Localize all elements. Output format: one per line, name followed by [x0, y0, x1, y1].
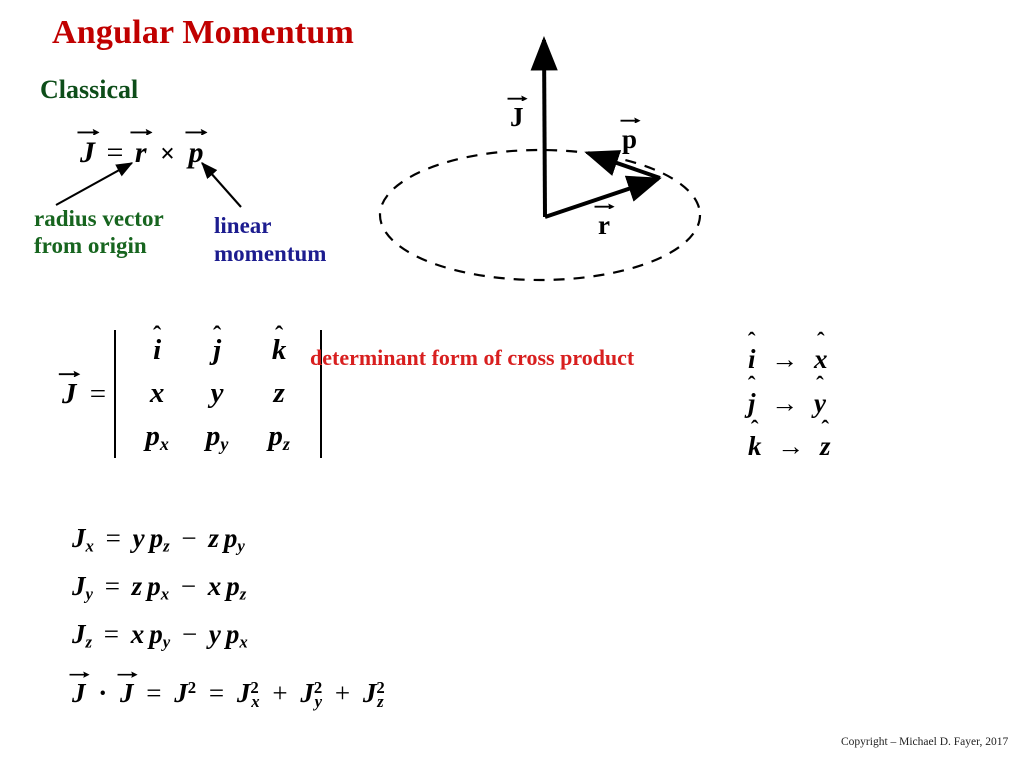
hat-accent: ˆ: [821, 418, 829, 441]
det-cell-r2c3: z: [248, 375, 310, 412]
hat-accent: ˆ: [817, 330, 825, 353]
maps-to-arrow-icon: →: [768, 431, 813, 461]
unit-map-row-k: ˆk → ˆz: [748, 425, 831, 469]
cross-eq-lhs: J: [80, 136, 95, 169]
label-linear-line1: linear: [214, 212, 326, 240]
dot-product-operator: ·: [92, 678, 113, 708]
equation-cross-product: J = r × p: [80, 136, 203, 170]
vector-arrow-accent: [116, 668, 137, 677]
cross-eq-equals: =: [103, 136, 128, 169]
component-equation-Jx: Jx = ypz − zpy: [72, 514, 248, 562]
vector-arrow-accent: [76, 125, 99, 135]
det-cell-r3c1: px: [128, 418, 186, 456]
hat-accent: ˆ: [748, 330, 756, 353]
vector-J-symbol: J: [80, 136, 95, 170]
label-linear-line2: momentum: [214, 240, 326, 268]
component-equation-Jy: Jy = zpx − xpz: [72, 562, 248, 610]
vector-arrow-p: [588, 153, 660, 178]
cross-eq-first-factor: r: [135, 136, 147, 169]
cross-eq-operator: ×: [154, 139, 181, 168]
determinant-equation: J = ˆi ˆj ˆk x y z px py pz: [62, 330, 322, 458]
determinant-bars: ˆi ˆj ˆk x y z px py pz: [114, 330, 322, 458]
diagram-label-r: r: [598, 210, 610, 241]
vector-arrow-J: [544, 40, 545, 217]
det-cell-r3c3: pz: [248, 418, 310, 456]
vector-r-symbol: r: [135, 136, 147, 170]
unit-map-row-j: ˆj → ˆy: [748, 382, 831, 426]
hat-accent: ˆ: [751, 418, 759, 441]
determinant-equals: =: [84, 378, 106, 410]
diagram-label-J: J: [510, 102, 524, 133]
det-cell-r2c2: y: [186, 375, 248, 412]
det-cell-r1c2: ˆj: [186, 332, 248, 369]
hat-accent: ˆ: [748, 374, 756, 397]
equation-J-dot-J: J · J = J2 = J2x + J2y + J2z: [72, 678, 384, 712]
vector-p-symbol: p: [188, 136, 203, 170]
label-radius-line1: radius vector: [34, 206, 164, 233]
maps-to-arrow-icon: →: [762, 388, 807, 418]
det-cell-r3c2: py: [186, 418, 248, 456]
orbit-ellipse-icon: [380, 150, 700, 280]
diagram-label-p: p: [622, 124, 637, 155]
vector-J-symbol-right: J: [120, 678, 134, 709]
vector-arrow-accent: [129, 125, 152, 135]
vector-arrow-accent: [184, 125, 207, 135]
det-cell-r2c1: x: [128, 375, 186, 412]
det-cell-r1c3: ˆk: [248, 332, 310, 369]
determinant-lhs: J =: [62, 378, 114, 411]
copyright-notice: Copyright – Michael D. Fayer, 2017: [841, 736, 1008, 748]
callout-arrow-to-p: [202, 163, 241, 207]
note-determinant-form: determinant form of cross product: [310, 345, 634, 371]
vector-arrow-accent: [58, 367, 81, 377]
cross-eq-second-factor: p: [188, 136, 203, 169]
page-title: Angular Momentum: [52, 14, 354, 52]
unit-vector-mapping: ˆi → ˆx ˆj → ˆy ˆk → ˆz: [748, 338, 831, 469]
hat-accent: ˆ: [816, 374, 824, 397]
component-equations: Jx = ypz − zpy Jy = zpx − xpz Jz = xpy −…: [72, 514, 248, 658]
determinant-grid: ˆi ˆj ˆk x y z px py pz: [128, 332, 310, 456]
angular-momentum-vector-diagram: J p r: [360, 20, 730, 300]
diagram-canvas: [360, 20, 730, 300]
det-cell-r1c1: ˆi: [128, 332, 186, 369]
label-radius-vector: radius vector from origin: [34, 206, 164, 259]
section-heading-classical: Classical: [40, 75, 138, 105]
vector-arrow-accent: [68, 668, 89, 677]
vector-J-symbol-left: J: [72, 678, 86, 709]
label-linear-momentum: linear momentum: [214, 212, 326, 268]
label-radius-line2: from origin: [34, 233, 164, 260]
maps-to-arrow-icon: →: [762, 344, 807, 374]
component-equation-Jz: Jz = xpy − ypx: [72, 610, 248, 658]
